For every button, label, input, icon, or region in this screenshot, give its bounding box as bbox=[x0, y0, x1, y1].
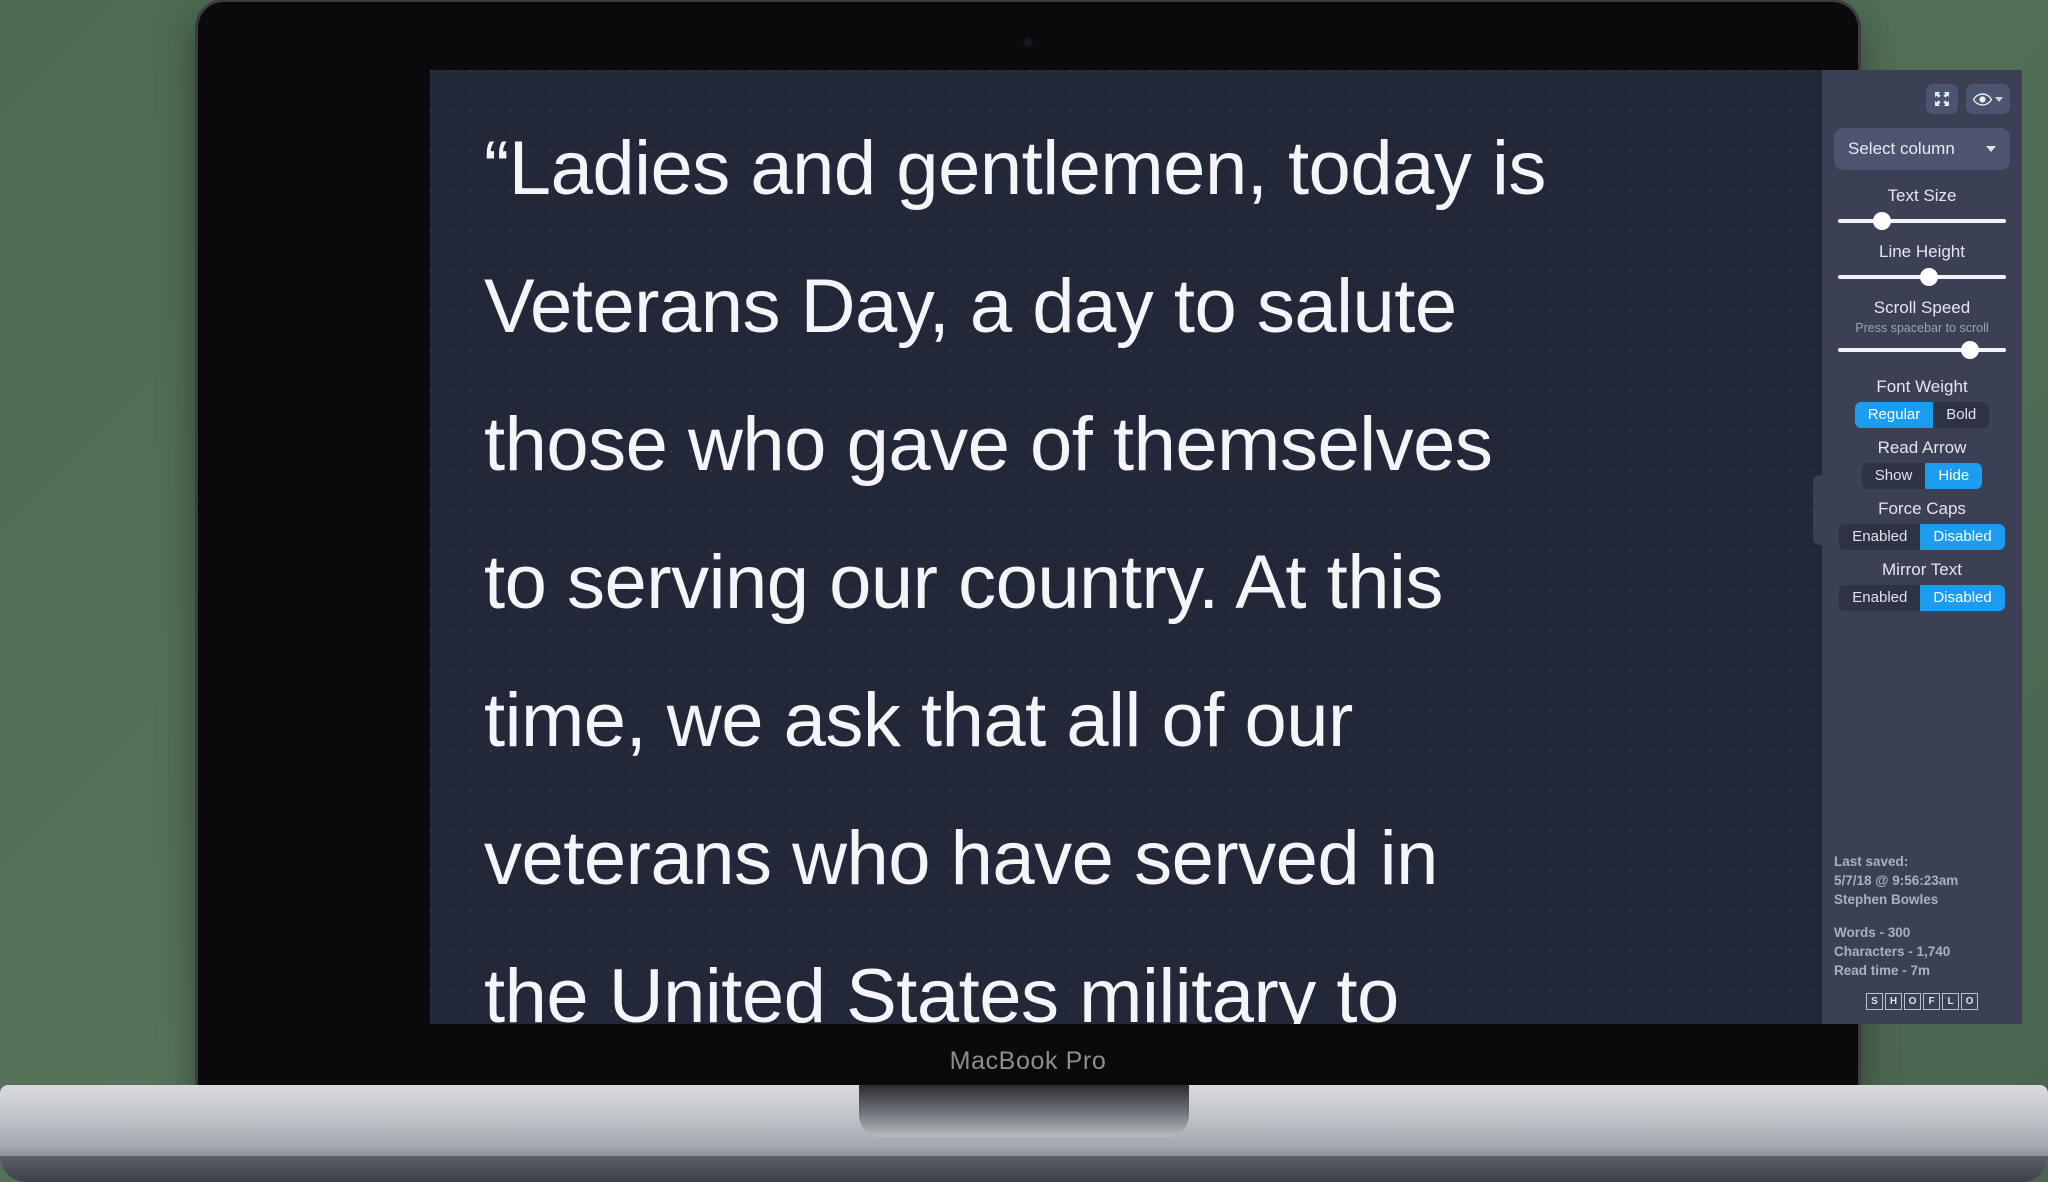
force-caps-segment: Enabled Disabled bbox=[1834, 524, 2010, 550]
prompter-line: “Ladies and gentlemen, today is bbox=[484, 100, 1822, 238]
mirror-text-option-disabled[interactable]: Disabled bbox=[1920, 585, 2004, 611]
read-arrow-label: Read Arrow bbox=[1834, 438, 2010, 458]
scroll-speed-slider[interactable] bbox=[1834, 341, 2010, 359]
prompter-line: the United States military to bbox=[484, 928, 1822, 1024]
prompter-line: to serving our country. At this bbox=[484, 514, 1822, 652]
webcam-icon bbox=[1024, 38, 1033, 47]
force-caps-option-disabled[interactable]: Disabled bbox=[1920, 524, 2004, 550]
shoflo-letter: S bbox=[1866, 993, 1883, 1010]
shoflo-letter: O bbox=[1904, 993, 1921, 1010]
eye-icon bbox=[1973, 93, 1992, 106]
slider-track bbox=[1838, 348, 2006, 352]
scroll-speed-hint: Press spacebar to scroll bbox=[1834, 321, 2010, 335]
prompter-line: Veterans Day, a day to salute bbox=[484, 238, 1822, 376]
font-weight-option-bold[interactable]: Bold bbox=[1933, 402, 1989, 428]
expand-icon-button[interactable] bbox=[1926, 84, 1958, 114]
teleprompter-text-area[interactable]: “Ladies and gentlemen, today is Veterans… bbox=[430, 70, 1822, 1024]
select-column-label: Select column bbox=[1848, 139, 1955, 159]
select-column-dropdown[interactable]: Select column bbox=[1834, 128, 2010, 170]
word-count: Words - 300 bbox=[1834, 924, 2010, 941]
read-arrow-option-hide[interactable]: Hide bbox=[1925, 463, 1982, 489]
read-arrow-segment: Show Hide bbox=[1834, 463, 2010, 489]
slider-thumb[interactable] bbox=[1920, 268, 1938, 286]
shoflo-logo: S H O F L O bbox=[1834, 993, 2010, 1010]
font-weight-label: Font Weight bbox=[1834, 377, 2010, 397]
sidebar-top-icon-row bbox=[1834, 84, 2010, 114]
mirror-text-segment: Enabled Disabled bbox=[1834, 585, 2010, 611]
shoflo-letter: H bbox=[1885, 993, 1902, 1010]
font-weight-option-regular[interactable]: Regular bbox=[1855, 402, 1934, 428]
prompter-line: those who gave of themselves bbox=[484, 376, 1822, 514]
laptop-lid: “Ladies and gentlemen, today is Veterans… bbox=[198, 2, 1858, 1092]
laptop-base bbox=[0, 1085, 2048, 1182]
mirror-text-label: Mirror Text bbox=[1834, 560, 2010, 580]
text-size-label: Text Size bbox=[1834, 186, 2010, 206]
force-caps-option-enabled[interactable]: Enabled bbox=[1839, 524, 1920, 550]
shoflo-letter: L bbox=[1942, 993, 1959, 1010]
prompter-line: veterans who have served in bbox=[484, 790, 1822, 928]
read-arrow-option-show[interactable]: Show bbox=[1862, 463, 1926, 489]
line-height-label: Line Height bbox=[1834, 242, 2010, 262]
font-weight-segment: Regular Bold bbox=[1834, 402, 2010, 428]
prompter-line: time, we ask that all of our bbox=[484, 652, 1822, 790]
laptop-base-notch bbox=[859, 1085, 1189, 1137]
sidebar-spacer bbox=[1834, 615, 2010, 853]
chevron-down-icon bbox=[1986, 146, 1996, 152]
settings-sidebar: Select column Text Size Line Height Scro… bbox=[1822, 70, 2022, 1024]
slider-thumb[interactable] bbox=[1873, 212, 1891, 230]
chevron-down-icon bbox=[1995, 97, 2003, 102]
slider-track bbox=[1838, 219, 2006, 223]
sidebar-collapse-handle[interactable] bbox=[1813, 475, 1823, 545]
read-time: Read time - 7m bbox=[1834, 962, 2010, 979]
visibility-eye-button[interactable] bbox=[1966, 84, 2010, 114]
shoflo-letter: F bbox=[1923, 993, 1940, 1010]
shoflo-letter: O bbox=[1961, 993, 1978, 1010]
line-height-slider[interactable] bbox=[1834, 268, 2010, 286]
screenshot-stage: “Ladies and gentlemen, today is Veterans… bbox=[0, 0, 2048, 1182]
expand-icon bbox=[1934, 91, 1950, 107]
mirror-text-option-enabled[interactable]: Enabled bbox=[1839, 585, 1920, 611]
last-saved-timestamp: 5/7/18 @ 9:56:23am bbox=[1834, 872, 2010, 889]
character-count: Characters - 1,740 bbox=[1834, 943, 2010, 960]
meta-spacer bbox=[1834, 910, 2010, 924]
laptop-screen: “Ladies and gentlemen, today is Veterans… bbox=[430, 70, 2022, 1024]
macbook-pro-label: MacBook Pro bbox=[198, 1047, 1858, 1076]
slider-thumb[interactable] bbox=[1961, 341, 1979, 359]
last-saved-user: Stephen Bowles bbox=[1834, 891, 2010, 908]
text-size-slider[interactable] bbox=[1834, 212, 2010, 230]
force-caps-label: Force Caps bbox=[1834, 499, 2010, 519]
laptop-base-lip bbox=[0, 1156, 2048, 1182]
scroll-speed-label: Scroll Speed bbox=[1834, 298, 2010, 318]
last-saved-label: Last saved: bbox=[1834, 853, 2010, 870]
